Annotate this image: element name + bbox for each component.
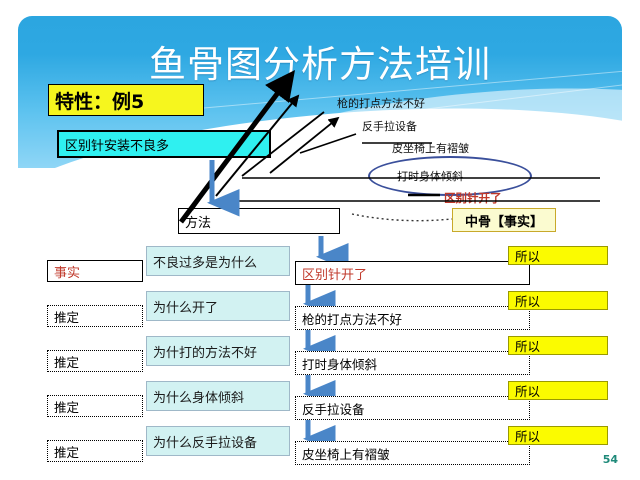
answer-box-1: 枪的打点方法不好 <box>295 306 530 330</box>
bone-label-3: 皮坐椅上有褶皱 <box>392 140 469 156</box>
answer-label-0: 区别针开了 <box>296 264 367 283</box>
bone-label-2: 反手拉设备 <box>362 118 417 134</box>
characteristic-tag-label: 特性：例5 <box>49 87 144 114</box>
question-label-4: 为什么反手拉设备 <box>147 432 257 451</box>
left-col-item-3: 推定 <box>47 395 143 417</box>
callout-connector <box>352 214 452 221</box>
question-label-2: 为什打的方法不好 <box>147 342 257 361</box>
question-label-0: 不良过多是为什么 <box>147 252 257 271</box>
answer-label-1: 枪的打点方法不好 <box>296 309 402 328</box>
question-box-2: 为什打的方法不好 <box>146 336 290 366</box>
left-col-item-2: 推定 <box>47 350 143 372</box>
answer-box-3: 反手拉设备 <box>295 396 530 420</box>
bone-label-4: 打时身体倾斜 <box>397 168 463 184</box>
characteristic-tag: 特性：例5 <box>48 84 204 116</box>
left-col-item-4: 推定 <box>47 440 143 462</box>
so-bar-3: 所以 <box>508 381 608 400</box>
so-label-1: 所以 <box>509 291 540 310</box>
bone-label-1: 枪的打点方法不好 <box>337 95 425 111</box>
question-box-0: 不良过多是为什么 <box>146 246 290 276</box>
question-box-4: 为什么反手拉设备 <box>146 426 290 456</box>
so-label-4: 所以 <box>509 426 540 445</box>
so-bar-4: 所以 <box>508 426 608 445</box>
so-label-3: 所以 <box>509 381 540 400</box>
page-title: 鱼骨图分析方法培训 <box>18 46 622 83</box>
left-col-item-0: 事实 <box>47 260 143 282</box>
method-box: 方法 <box>178 208 340 234</box>
answer-label-4: 皮坐椅上有褶皱 <box>296 444 390 463</box>
middle-bone-callout: 中骨【事实】 <box>452 208 556 232</box>
left-col-label-2: 推定 <box>48 352 79 371</box>
middle-bone-callout-label: 中骨【事实】 <box>465 211 543 230</box>
problem-statement-box: 区别针安装不良多 <box>57 130 271 158</box>
bone-label-5: 区别针开了 <box>444 190 502 206</box>
answer-box-4: 皮坐椅上有褶皱 <box>295 441 530 465</box>
answer-box-2: 打时身体倾斜 <box>295 351 530 375</box>
so-bar-2: 所以 <box>508 336 608 355</box>
left-col-item-1: 推定 <box>47 305 143 327</box>
question-label-3: 为什么身体倾斜 <box>147 387 244 406</box>
left-col-label-0: 事实 <box>48 262 80 281</box>
page-number: 54 <box>603 453 618 466</box>
left-col-label-4: 推定 <box>48 442 79 461</box>
slide-canvas: 鱼骨图分析方法培训 特性：例5 区别针安装不良多 方法 枪的打点方法不好 反手拉… <box>0 0 640 480</box>
left-col-label-3: 推定 <box>48 397 79 416</box>
problem-statement-label: 区别针安装不良多 <box>59 135 169 154</box>
left-col-label-1: 推定 <box>48 307 79 326</box>
answer-box-0: 区别针开了 <box>295 261 530 285</box>
method-label: 方法 <box>179 212 211 231</box>
answer-label-3: 反手拉设备 <box>296 399 365 418</box>
question-label-1: 为什么开了 <box>147 297 218 316</box>
so-bar-1: 所以 <box>508 291 608 310</box>
so-label-0: 所以 <box>509 246 540 265</box>
question-box-3: 为什么身体倾斜 <box>146 381 290 411</box>
question-box-1: 为什么开了 <box>146 291 290 321</box>
so-bar-0: 所以 <box>508 246 608 265</box>
answer-label-2: 打时身体倾斜 <box>296 354 377 373</box>
so-label-2: 所以 <box>509 336 540 355</box>
